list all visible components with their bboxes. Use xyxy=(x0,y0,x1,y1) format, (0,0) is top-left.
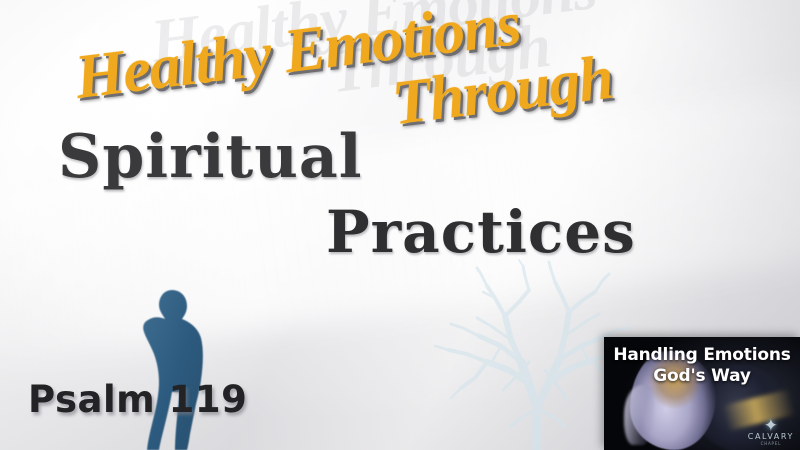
subtitle-line-1: Spiritual xyxy=(58,122,363,192)
sculpture-face-profile xyxy=(624,385,654,445)
thumbnail-title: Handling Emotions God's Way xyxy=(604,345,800,387)
walking-man-silhouette xyxy=(128,288,216,450)
series-thumbnail[interactable]: Handling Emotions God's Way ✦ CALVARY CH… xyxy=(604,337,800,450)
star-burst-icon: ✦ xyxy=(748,419,794,432)
presentation-slide: Healthy Emotions Through Healthy Emotion… xyxy=(0,0,800,450)
calvary-logo: ✦ CALVARY CHAPEL xyxy=(748,419,794,446)
scripture-reference: Psalm 119 xyxy=(28,378,247,421)
logo-sub-text: CHAPEL xyxy=(748,441,794,446)
thumbnail-title-line-2: God's Way xyxy=(604,366,800,387)
subtitle-line-2: Practices xyxy=(326,198,636,266)
logo-brand-text: CALVARY xyxy=(748,432,794,441)
thumbnail-title-line-1: Handling Emotions xyxy=(613,345,790,365)
